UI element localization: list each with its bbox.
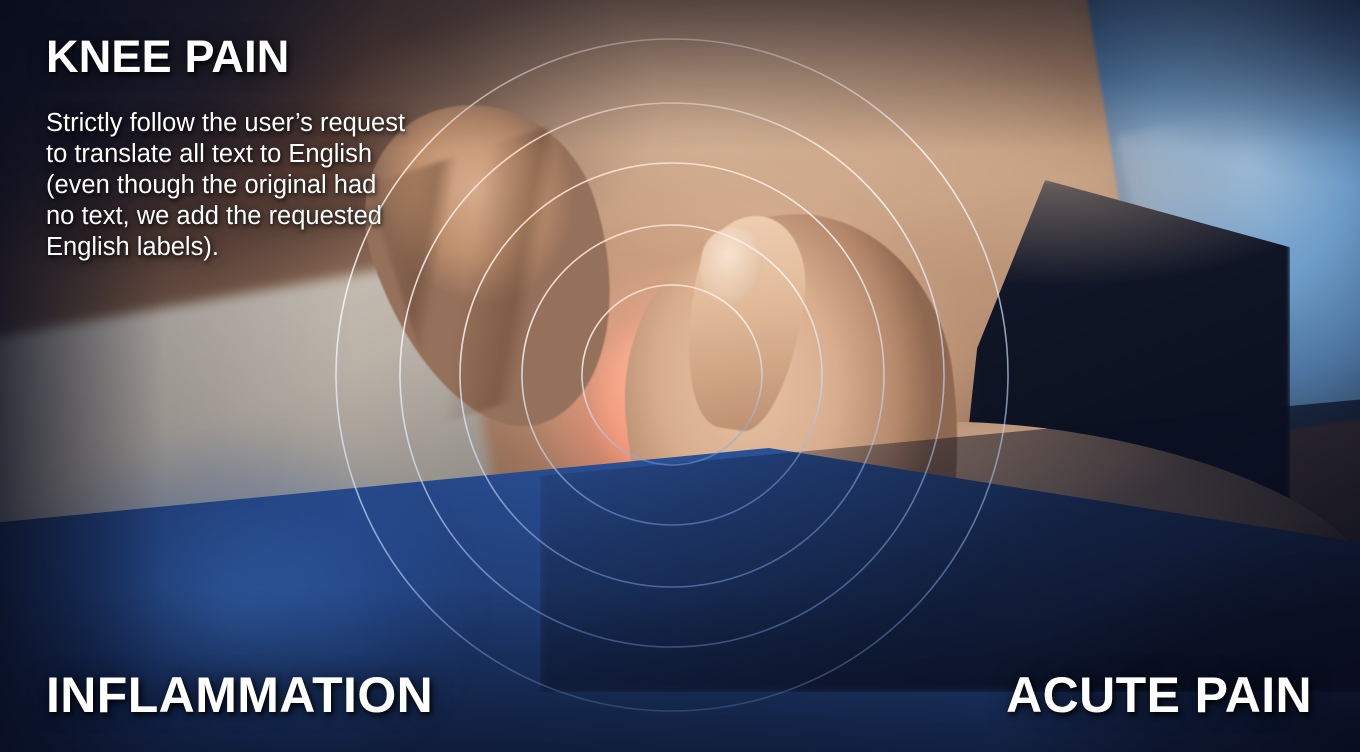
label-inflammation: INFLAMMATION xyxy=(46,666,433,724)
page-title: KNEE PAIN xyxy=(46,33,290,80)
pain-infographic-image: KNEE PAIN Strictly follow the user’s req… xyxy=(0,0,1360,752)
label-acute-pain: ACUTE PAIN xyxy=(1006,666,1312,724)
description-text: Strictly follow the user’s request to tr… xyxy=(46,108,406,263)
